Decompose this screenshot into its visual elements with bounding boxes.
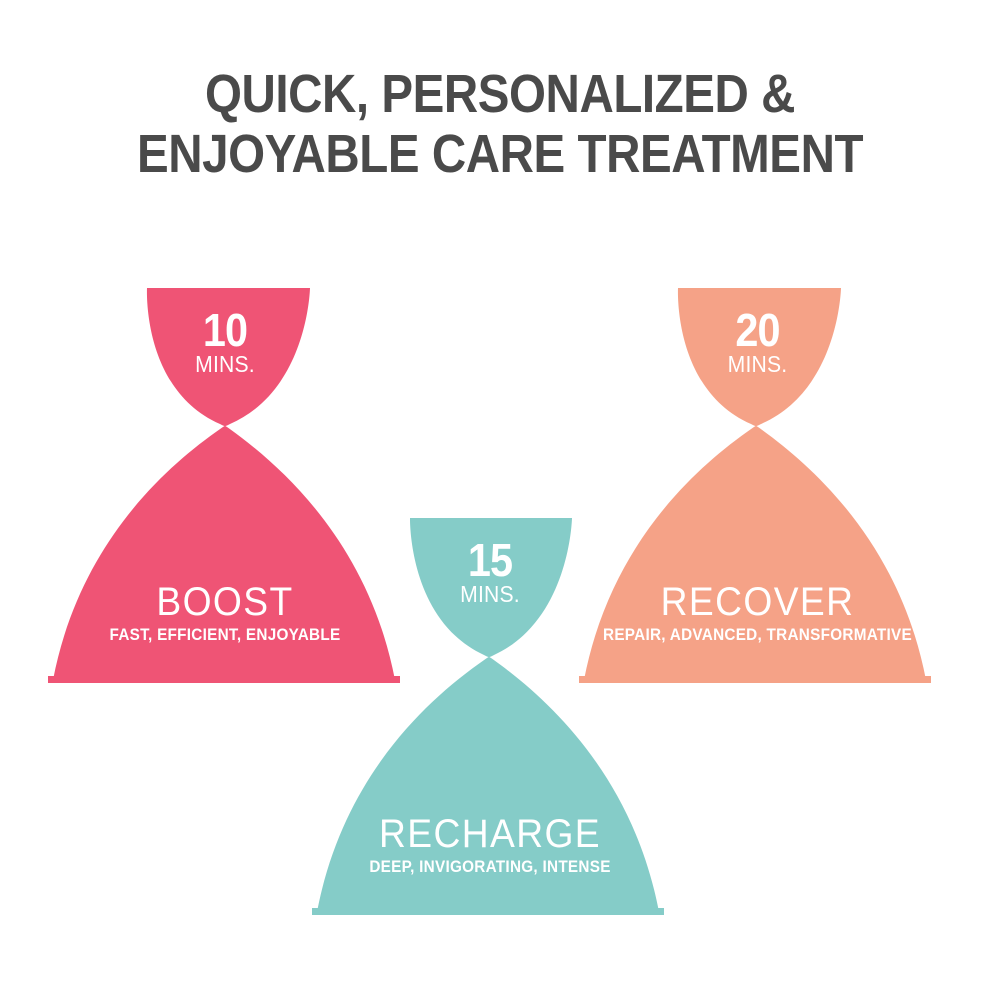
recover-duration-value: 20 (589, 308, 927, 352)
infographic-canvas: QUICK, PERSONALIZED & ENJOYABLE CARE TRE… (0, 0, 1000, 1000)
boost-duration-unit: MINS. (55, 352, 395, 377)
title-line-1: QUICK, PERSONALIZED & (60, 64, 940, 124)
hourglass-recover-base (579, 676, 931, 683)
recover-tagline: REPAIR, ADVANCED, TRANSFORMATIVE (589, 624, 927, 646)
boost-duration-value: 10 (59, 308, 392, 352)
title-line-2: ENJOYABLE CARE TREATMENT (60, 124, 940, 184)
recover-duration-unit: MINS. (585, 352, 930, 377)
recover-duration-block: 20 MINS. (570, 308, 945, 377)
recover-label-block: RECOVER REPAIR, ADVANCED, TRANSFORMATIVE (570, 580, 945, 646)
recharge-label-block: RECHARGE DEEP, INVIGORATING, INTENSE (300, 812, 680, 878)
page-title: QUICK, PERSONALIZED & ENJOYABLE CARE TRE… (0, 64, 1000, 184)
recharge-tagline: DEEP, INVIGORATING, INTENSE (319, 856, 661, 878)
hourglass-recover[interactable]: 20 MINS. RECOVER REPAIR, ADVANCED, TRANS… (570, 280, 945, 690)
boost-duration-block: 10 MINS. (40, 308, 410, 377)
recharge-name: RECHARGE (313, 812, 666, 856)
recover-name: RECOVER (583, 580, 932, 624)
hourglass-recharge-base (312, 908, 664, 915)
